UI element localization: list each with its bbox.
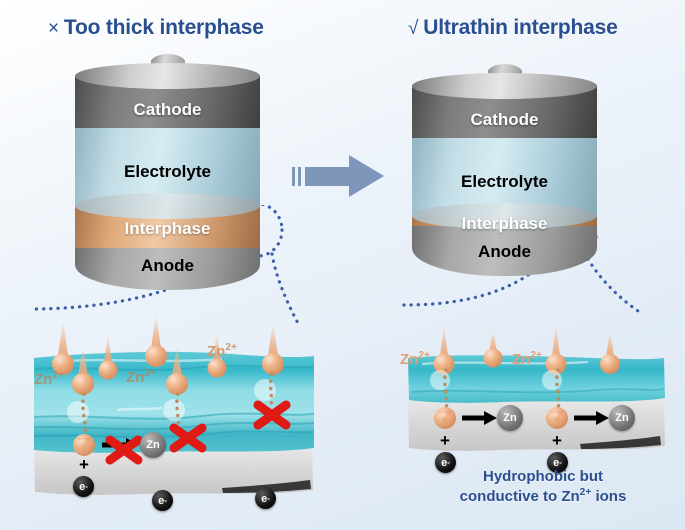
layer-label-electrolyte: Electrolyte — [75, 162, 260, 182]
layer-label-electrolyte: Electrolyte — [412, 172, 597, 192]
transition-arrow-icon — [292, 150, 388, 207]
title-left: ×Too thick interphase — [48, 16, 264, 40]
thick-interphase-detail-panel: Zn2+ Zn2+ Zn2+ Zn + e- e- e- — [22, 300, 322, 530]
battery-layer-interphase: Interphase — [75, 206, 260, 248]
plus-sign: + — [440, 432, 450, 449]
battery-layer-anode: Anode — [75, 248, 260, 290]
deposited-zn-ball: Zn — [140, 432, 166, 458]
ion-label-zn: Zn2+ — [207, 342, 237, 360]
plus-sign: + — [79, 456, 89, 473]
layer-label-interphase: Interphase — [75, 219, 260, 239]
ion-label-zn: Zn2+ — [126, 368, 156, 386]
title-right: √Ultrathin interphase — [408, 16, 618, 40]
title-left-text: Too thick interphase — [64, 16, 264, 39]
layer-label-anode: Anode — [75, 256, 260, 276]
caption-line-2-pre: conductive to Zn — [460, 488, 580, 505]
ultrathin-interphase-battery: Cathode Electrolyte Interphase Anode — [412, 72, 597, 294]
ion-label-zn: Zn2+ — [512, 350, 542, 368]
caption-line-2: conductive to Zn2+ ions — [418, 487, 668, 507]
battery-layer-cathode: Cathode — [75, 76, 260, 128]
layer-label-cathode: Cathode — [412, 110, 597, 130]
battery-layer-cathode: Cathode — [412, 86, 597, 138]
plus-sign: + — [552, 432, 562, 449]
battery-layer-interphase: Interphase — [412, 216, 597, 226]
deposited-zn-ball: Zn — [609, 405, 635, 431]
caption-line-2-post: ions — [591, 488, 626, 505]
caption-line-1: Hydrophobic but — [418, 468, 668, 487]
layer-label-interphase: Interphase — [412, 214, 597, 234]
layer-label-anode: Anode — [412, 242, 597, 262]
ultrathin-interphase-detail-panel: Zn2+ Zn2+ Zn Zn + + e- e- — [398, 312, 678, 492]
panel-caption: Hydrophobic but conductive to Zn2+ ions — [418, 468, 668, 507]
electron-icon: e- — [255, 488, 276, 509]
thick-interphase-battery: Cathode Electrolyte Interphase Anode — [75, 62, 260, 284]
layer-label-cathode: Cathode — [75, 100, 260, 120]
caption-line-2-sup: 2+ — [580, 487, 592, 498]
ion-label-zn: Zn2+ — [400, 350, 430, 368]
ion-label-zn: Zn2+ — [34, 370, 64, 388]
figure-canvas: ×Too thick interphase √Ultrathin interph… — [0, 0, 685, 530]
cross-icon: × — [48, 18, 59, 39]
electron-icon: e- — [73, 476, 94, 497]
deposited-zn-ball: Zn — [497, 405, 523, 431]
electron-icon: e- — [152, 490, 173, 511]
check-icon: √ — [408, 18, 418, 39]
title-right-text: Ultrathin interphase — [423, 16, 617, 39]
